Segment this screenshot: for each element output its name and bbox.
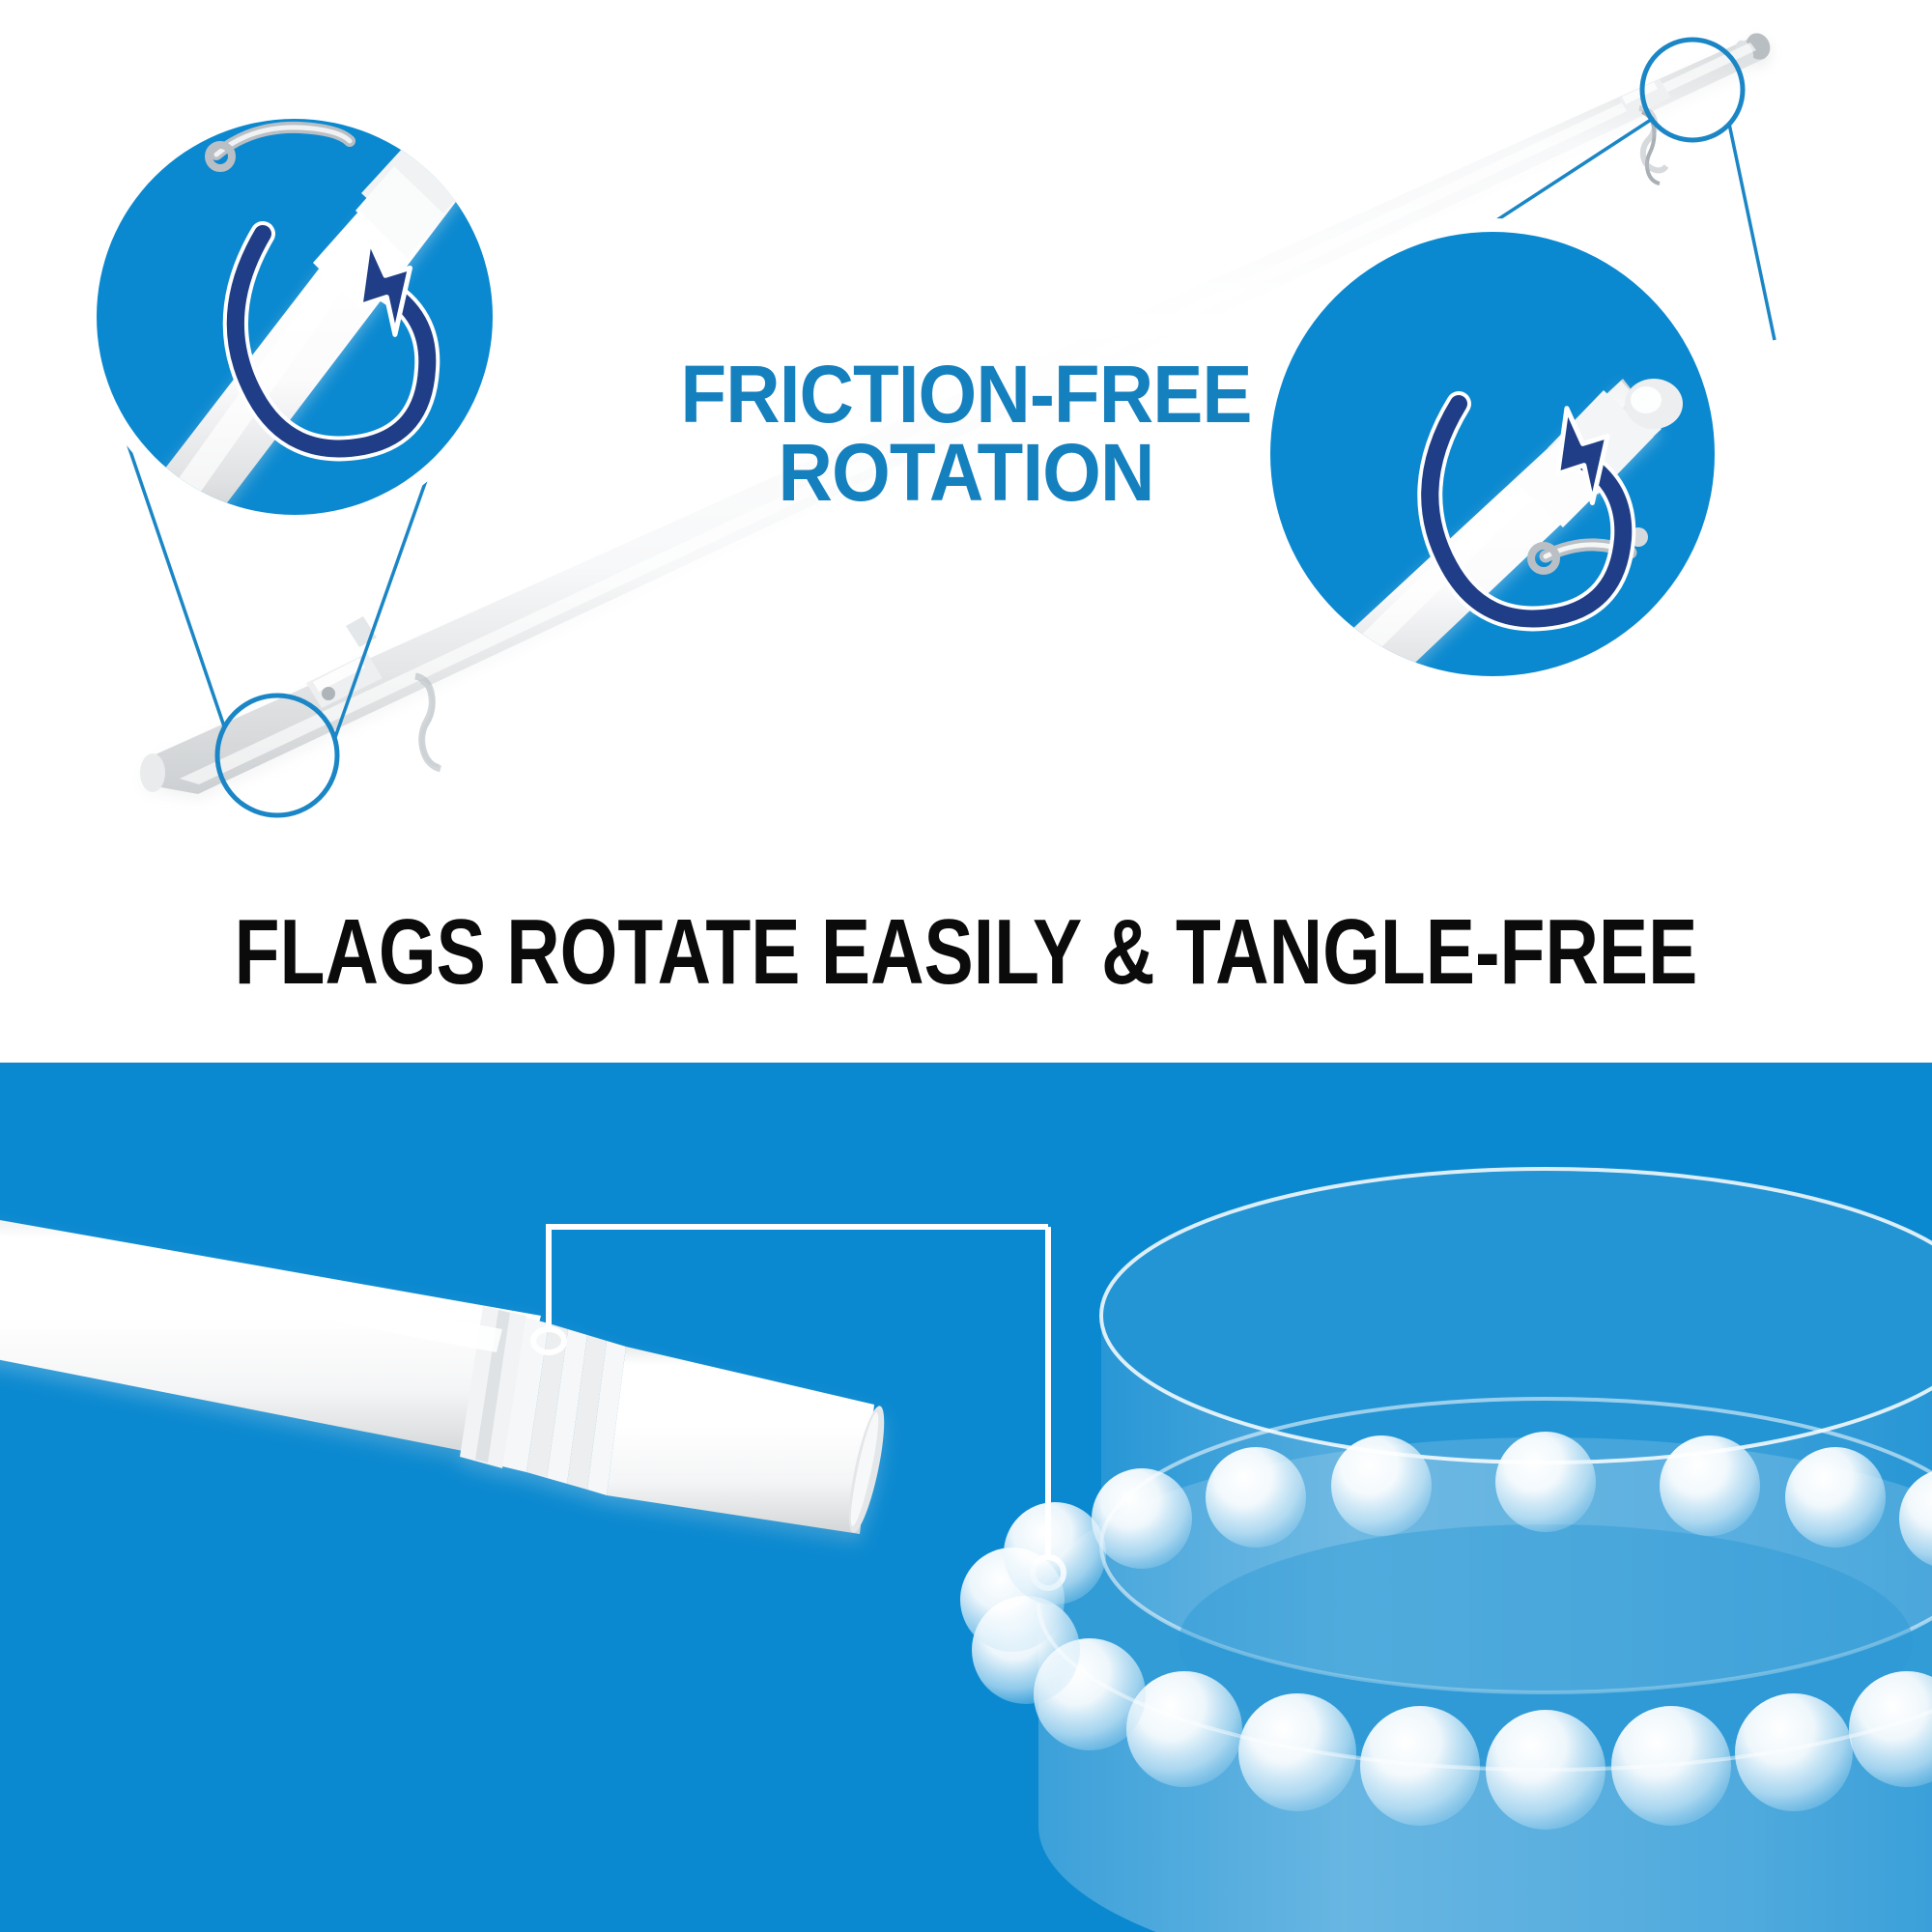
feature-heading-line1: FRICTION-FREE [680,349,1251,440]
main-headline: FLAGS ROTATE EASILY & TANGLE-FREE [193,906,1739,999]
right-detail-inset [1257,218,1728,715]
ball-bearing-ring-diagram [960,1169,1932,1932]
bottom-panel: BALL BEARINGS IN THE MOUNTING RINGS PROV… [0,1063,1932,1932]
pole-coupling-closeup [0,1213,892,1535]
infographic-page: FRICTION-FREE ROTATION FLAGS ROTATE EASI… [0,0,1932,1932]
left-detail-inset [83,105,560,541]
top-panel: FRICTION-FREE ROTATION FLAGS ROTATE EASI… [0,0,1932,1063]
feature-heading-line2: ROTATION [678,434,1253,512]
feature-heading: FRICTION-FREE ROTATION [678,355,1253,511]
bottom-panel-illustration [0,1063,1932,1932]
